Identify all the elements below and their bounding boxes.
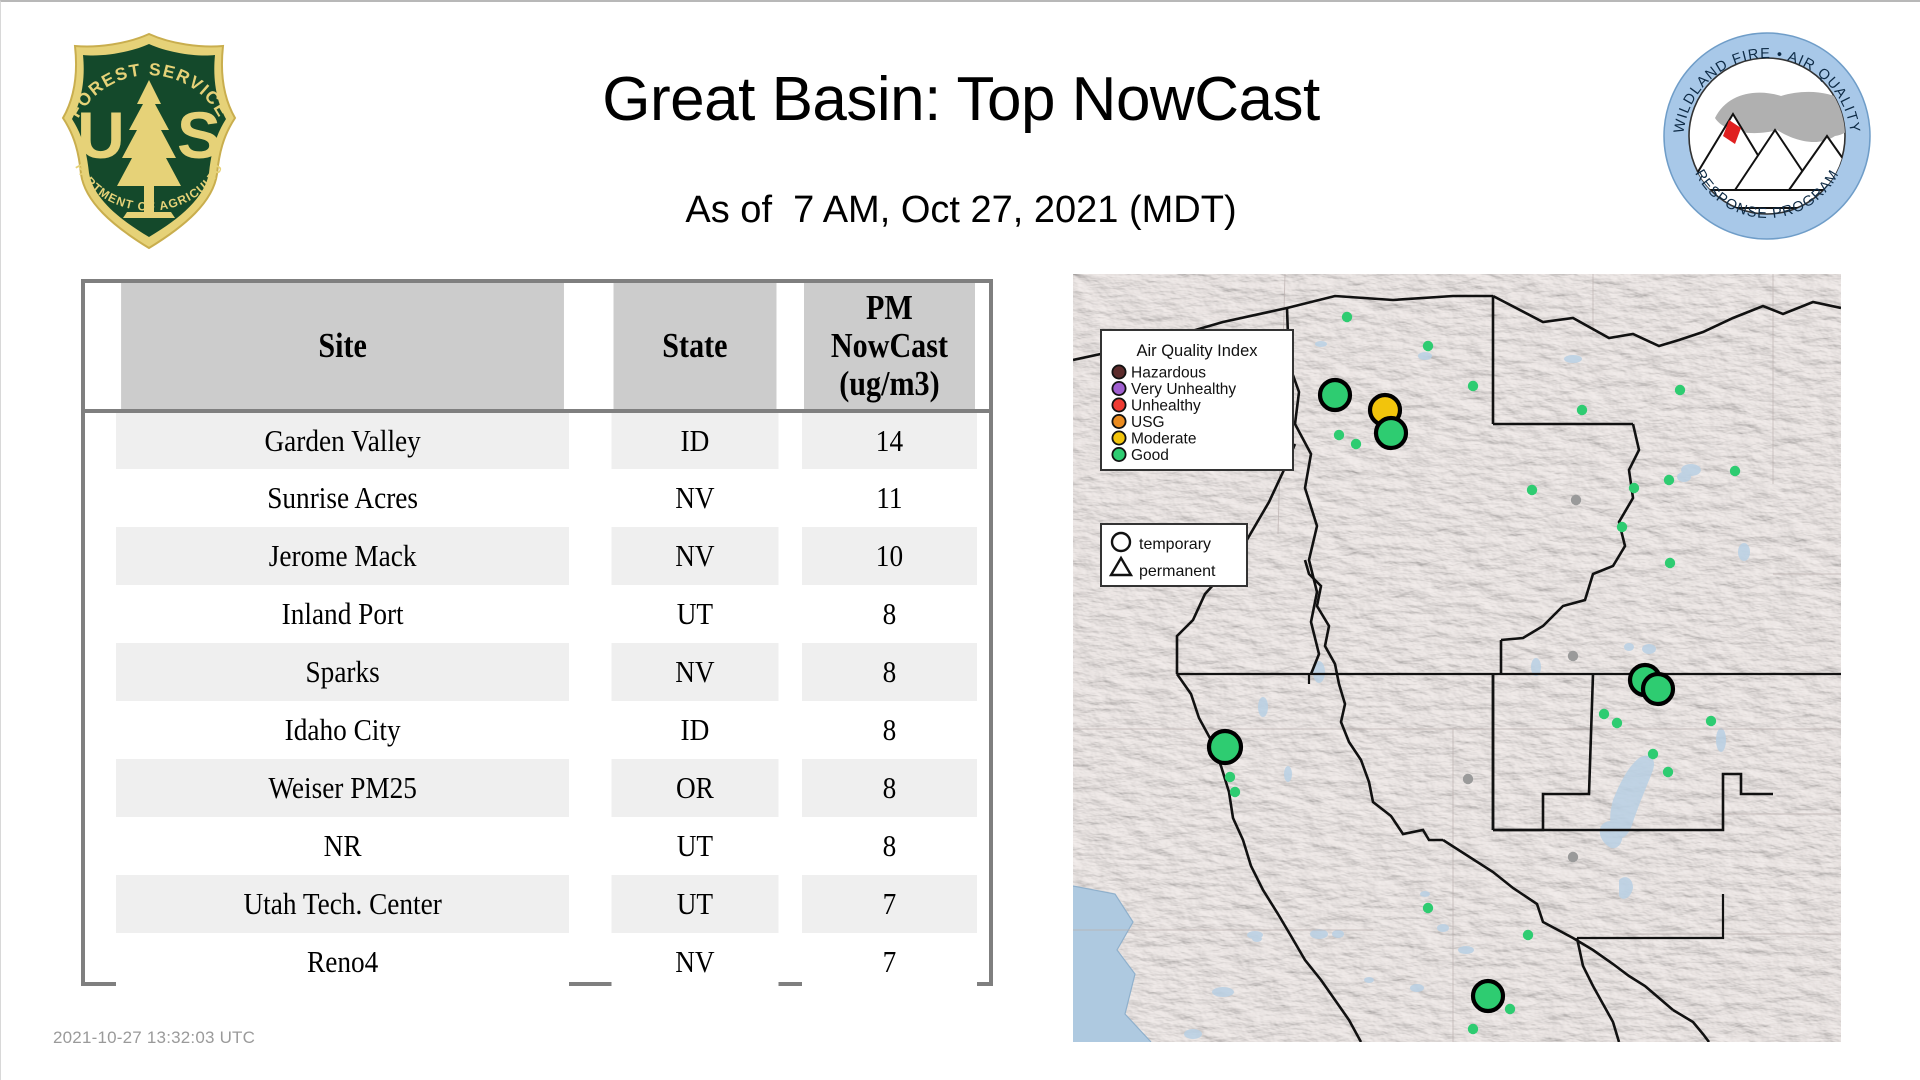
map-site-marker <box>1468 1024 1478 1034</box>
table-head: Site State PM NowCast (ug/m3) <box>85 283 989 411</box>
column-header-pm-nowcast: PM NowCast (ug/m3) <box>804 283 975 411</box>
state-cell: UT <box>612 875 779 933</box>
aqi-legend-label: Moderate <box>1131 431 1196 448</box>
state-cell: UT <box>612 585 779 643</box>
aqi-swatch-very-unhealthy <box>1112 382 1125 395</box>
map-site-marker <box>1571 495 1581 505</box>
pm-nowcast-cell: 11 <box>802 469 977 527</box>
pm-nowcast-cell: 8 <box>802 643 977 701</box>
map-site-marker <box>1463 774 1473 784</box>
map-site-marker <box>1568 651 1578 661</box>
state-cell: ID <box>612 411 779 469</box>
site-cell: Jerome Mack <box>116 527 569 585</box>
site-cell: NR <box>116 817 569 875</box>
aqi-legend-label: Unhealthy <box>1131 398 1201 415</box>
state-cell: NV <box>612 527 779 585</box>
aqi-swatch-unhealthy <box>1112 398 1125 411</box>
site-cell: Reno4 <box>116 933 569 991</box>
map-site-marker <box>1225 772 1235 782</box>
table-row: Sunrise AcresNV11 <box>85 469 989 527</box>
nowcast-table: Site State PM NowCast (ug/m3) Garden Val… <box>85 283 989 991</box>
map-top-site-marker[interactable] <box>1320 380 1350 410</box>
map-site-marker <box>1612 718 1622 728</box>
map-site-marker <box>1423 903 1433 913</box>
site-cell: Sunrise Acres <box>116 469 569 527</box>
map-site-marker <box>1706 716 1716 726</box>
table-row: Jerome MackNV10 <box>85 527 989 585</box>
map-site-marker <box>1648 749 1658 759</box>
table-body: Garden ValleyID14Sunrise AcresNV11Jerome… <box>85 411 989 991</box>
site-cell: Weiser PM25 <box>116 759 569 817</box>
map-site-marker <box>1423 341 1433 351</box>
map-site-marker <box>1629 483 1639 493</box>
forest-service-logo: U S FOREST SERVICE DEPARTMENT OF AGRICUL… <box>49 26 249 256</box>
slide-root: U S FOREST SERVICE DEPARTMENT OF AGRICUL… <box>0 0 1920 1080</box>
map-site-marker <box>1342 312 1352 322</box>
state-cell: NV <box>612 933 779 991</box>
map-top-site-marker[interactable] <box>1643 674 1673 704</box>
map-site-marker <box>1523 930 1533 940</box>
site-cell: Garden Valley <box>116 411 569 469</box>
map-site-marker <box>1351 439 1361 449</box>
map-site-marker <box>1527 485 1537 495</box>
table-row: Idaho CityID8 <box>85 701 989 759</box>
map-site-marker <box>1663 767 1673 777</box>
table-row: Inland PortUT8 <box>85 585 989 643</box>
state-cell: OR <box>612 759 779 817</box>
pm-nowcast-cell: 8 <box>802 585 977 643</box>
aqi-legend-title: Air Quality Index <box>1136 342 1258 360</box>
aqi-swatch-good <box>1112 448 1125 461</box>
pm-header-line-2: NowCast <box>831 326 948 365</box>
map-site-marker <box>1665 558 1675 568</box>
pm-nowcast-cell: 7 <box>802 933 977 991</box>
table-row: Weiser PM25OR8 <box>85 759 989 817</box>
wfaqrp-logo: WILDLAND FIRE • AIR QUALITY RESPONSE PRO… <box>1661 30 1873 242</box>
nowcast-table-container: Site State PM NowCast (ug/m3) Garden Val… <box>81 279 993 986</box>
map-top-site-marker[interactable] <box>1473 981 1503 1011</box>
table-row: Reno4NV7 <box>85 933 989 991</box>
map-top-site-marker[interactable] <box>1209 731 1241 763</box>
station-type-legend: temporary permanent <box>1101 524 1247 586</box>
aqi-legend-label: Hazardous <box>1131 365 1206 382</box>
pm-header-line-1: PM <box>866 288 913 327</box>
page-title: Great Basin: Top NowCast <box>301 64 1621 136</box>
map-site-marker <box>1230 787 1240 797</box>
pm-nowcast-cell: 10 <box>802 527 977 585</box>
temporary-legend-label: temporary <box>1139 536 1211 553</box>
site-cell: Inland Port <box>116 585 569 643</box>
map-canvas: Air Quality Index HazardousVery Unhealth… <box>1073 274 1841 1042</box>
map-site-marker <box>1577 405 1587 415</box>
aqi-legend-label: Good <box>1131 447 1169 464</box>
pm-nowcast-cell: 8 <box>802 701 977 759</box>
table-header-row: Site State PM NowCast (ug/m3) <box>85 283 989 411</box>
aqi-legend: Air Quality Index HazardousVery Unhealth… <box>1101 330 1293 470</box>
site-cell: Utah Tech. Center <box>116 875 569 933</box>
permanent-legend-label: permanent <box>1139 563 1216 580</box>
map-site-marker <box>1675 385 1685 395</box>
table-row: NRUT8 <box>85 817 989 875</box>
map-site-marker <box>1664 475 1674 485</box>
state-cell: NV <box>612 469 779 527</box>
aqi-legend-label: Very Unhealthy <box>1131 381 1236 398</box>
page-subtitle: As of 7 AM, Oct 27, 2021 (MDT) <box>301 188 1621 232</box>
map-site-marker <box>1617 522 1627 532</box>
state-cell: NV <box>612 643 779 701</box>
pm-nowcast-cell: 8 <box>802 817 977 875</box>
table-row: Utah Tech. CenterUT7 <box>85 875 989 933</box>
column-header-state: State <box>614 283 777 411</box>
table-row: SparksNV8 <box>85 643 989 701</box>
map-site-marker <box>1334 430 1344 440</box>
site-cell: Idaho City <box>116 701 569 759</box>
state-cell: ID <box>612 701 779 759</box>
pm-nowcast-cell: 7 <box>802 875 977 933</box>
temporary-station-icon <box>1112 533 1130 551</box>
map-top-site-marker[interactable] <box>1376 418 1406 448</box>
site-cell: Sparks <box>116 643 569 701</box>
map-site-marker <box>1568 852 1578 862</box>
pm-header-line-3: (ug/m3) <box>839 364 939 403</box>
state-cell: UT <box>612 817 779 875</box>
aqi-legend-label: USG <box>1131 414 1165 431</box>
map-site-marker <box>1468 381 1478 391</box>
aqi-swatch-usg <box>1112 415 1125 428</box>
map-site-marker <box>1730 466 1740 476</box>
generation-timestamp: 2021-10-27 13:32:03 UTC <box>53 1028 255 1048</box>
pm-nowcast-cell: 8 <box>802 759 977 817</box>
pm-nowcast-cell: 14 <box>802 411 977 469</box>
great-basin-map[interactable]: Air Quality Index HazardousVery Unhealth… <box>1073 274 1841 1042</box>
aqi-swatch-hazardous <box>1112 365 1125 378</box>
aqi-swatch-moderate <box>1112 431 1125 444</box>
map-site-marker <box>1505 1004 1515 1014</box>
map-site-marker <box>1599 709 1609 719</box>
column-header-site: Site <box>121 283 564 411</box>
table-row: Garden ValleyID14 <box>85 411 989 469</box>
